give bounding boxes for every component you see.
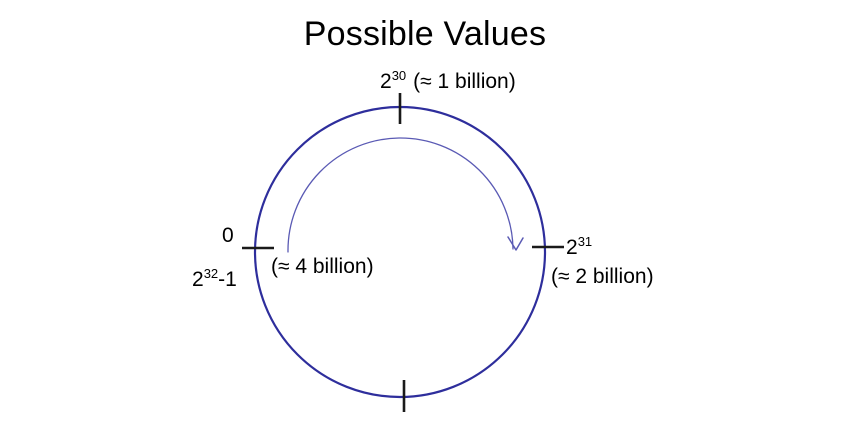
label-2-pow-30-approx: (≈ 1 billion) [413,70,516,93]
label-2-pow-30: 230(≈ 1 billion) [380,70,516,94]
slide-canvas: Possible Values 230(≈ 1 billion) 231 (≈ … [0,0,850,437]
arrow-head-icon [508,237,523,250]
label-4-billion-approx: (≈ 4 billion) [271,255,374,279]
wheel-circle [255,107,545,397]
label-zero: 0 [222,224,234,248]
label-2-pow-31: 231 [566,236,592,260]
number-wheel-diagram [0,0,850,437]
label-2-pow-31-approx: (≈ 2 billion) [551,265,654,289]
label-2-pow-32-minus-1: 232-1 [192,268,237,292]
label-2-pow-30-value: 230 [380,70,406,93]
clockwise-arrow-arc [288,138,513,252]
